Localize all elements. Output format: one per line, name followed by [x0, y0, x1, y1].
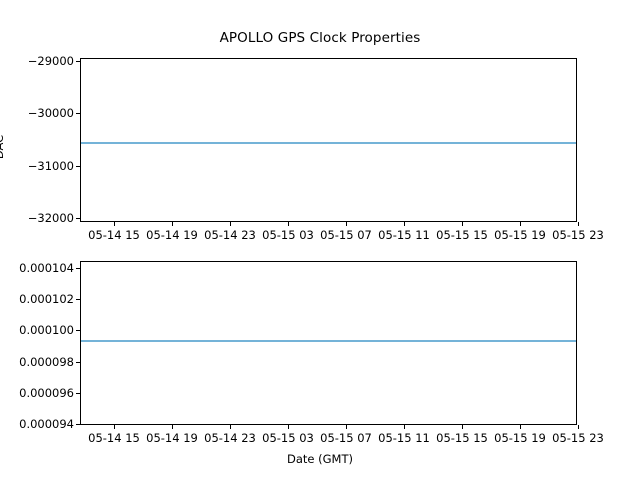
y-tick-label: −32000: [28, 211, 74, 225]
x-tick-mark: [404, 222, 405, 226]
y-tick-mark: [76, 362, 80, 363]
x-tick-mark: [172, 222, 173, 226]
x-tick-mark: [346, 222, 347, 226]
data-line-dac: [81, 142, 576, 144]
x-tick-mark: [404, 425, 405, 429]
chart-title: APOLLO GPS Clock Properties: [0, 30, 640, 46]
data-line-clock-offset: [81, 340, 576, 342]
y-tick-label: −31000: [28, 159, 74, 173]
y-tick-label: −29000: [28, 54, 74, 68]
y-tick-label: 0.000102: [19, 292, 74, 306]
y-tick-label: −30000: [28, 106, 74, 120]
x-tick-mark: [172, 425, 173, 429]
x-axis-label: Date (GMT): [0, 452, 640, 466]
x-tick-mark: [230, 425, 231, 429]
y-tick-label: 0.000098: [19, 355, 74, 369]
y-tick-label: 0.000096: [19, 386, 74, 400]
y-tick-mark: [76, 299, 80, 300]
y-tick-mark: [76, 424, 80, 425]
x-tick-mark: [520, 425, 521, 429]
y-tick-mark: [76, 61, 80, 62]
x-tick-label: 05-15 19: [494, 228, 546, 242]
y-axis-ticklabels-bottom: 0.0001040.0001020.0001000.0000980.000096…: [0, 261, 74, 425]
x-tick-label: 05-15 19: [494, 431, 546, 445]
x-tick-label: 05-15 15: [436, 431, 488, 445]
x-tick-mark: [462, 425, 463, 429]
x-tick-label: 05-14 23: [204, 228, 256, 242]
x-tick-label: 05-15 23: [552, 431, 604, 445]
x-tick-mark: [114, 222, 115, 226]
x-tick-mark: [346, 425, 347, 429]
x-tick-mark: [520, 222, 521, 226]
x-tick-mark: [288, 425, 289, 429]
y-tick-label: 0.000104: [19, 261, 74, 275]
y-tick-mark: [76, 218, 80, 219]
figure-canvas: APOLLO GPS Clock Properties DAC −29000−3…: [0, 0, 640, 480]
y-axis-ticklabels-top: −29000−30000−31000−32000: [0, 58, 74, 222]
x-tick-label: 05-15 11: [378, 431, 430, 445]
x-tick-label: 05-14 19: [146, 228, 198, 242]
x-tick-label: 05-14 19: [146, 431, 198, 445]
x-tick-label: 05-15 11: [378, 228, 430, 242]
y-tick-label: 0.000100: [19, 323, 74, 337]
x-tick-label: 05-15 23: [552, 228, 604, 242]
y-tick-mark: [76, 166, 80, 167]
y-tick-mark: [76, 393, 80, 394]
x-tick-mark: [462, 222, 463, 226]
y-tick-mark: [76, 330, 80, 331]
x-tick-mark: [114, 425, 115, 429]
x-tick-label: 05-15 03: [262, 228, 314, 242]
x-tick-label: 05-15 03: [262, 431, 314, 445]
x-tick-mark: [288, 222, 289, 226]
x-tick-label: 05-15 07: [320, 228, 372, 242]
x-tick-label: 05-15 07: [320, 431, 372, 445]
y-tick-mark: [76, 268, 80, 269]
plot-area-clock-offset: [80, 261, 577, 425]
y-tick-label: 0.000094: [19, 417, 74, 431]
x-tick-mark: [578, 222, 579, 226]
x-tick-label: 05-14 23: [204, 431, 256, 445]
x-tick-label: 05-14 15: [88, 431, 140, 445]
plot-area-dac: [80, 58, 577, 222]
x-tick-label: 05-14 15: [88, 228, 140, 242]
x-tick-mark: [578, 425, 579, 429]
x-tick-label: 05-15 15: [436, 228, 488, 242]
x-tick-mark: [230, 222, 231, 226]
y-tick-mark: [76, 113, 80, 114]
